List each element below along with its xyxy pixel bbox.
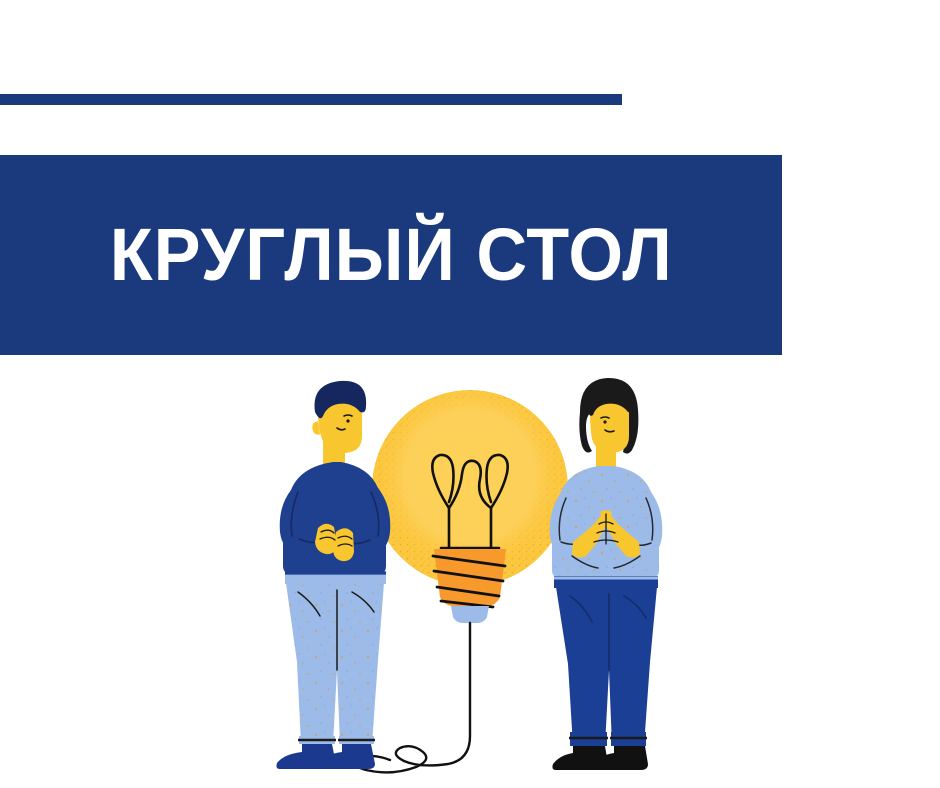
man-sweater bbox=[283, 462, 386, 574]
lightbulb-bottom-cap bbox=[451, 606, 489, 623]
page-title: КРУГЛЫЙ СТОЛ bbox=[110, 218, 673, 292]
top-accent-rule bbox=[0, 94, 622, 105]
slide-canvas: КРУГЛЫЙ СТОЛ bbox=[0, 0, 940, 788]
person-right-woman bbox=[550, 378, 663, 770]
title-band: КРУГЛЫЙ СТОЛ bbox=[0, 155, 782, 355]
illustration-svg bbox=[0, 340, 940, 788]
person-left-man bbox=[276, 381, 390, 769]
illustration-container bbox=[0, 340, 940, 788]
lightbulb-screw-base bbox=[433, 549, 506, 607]
